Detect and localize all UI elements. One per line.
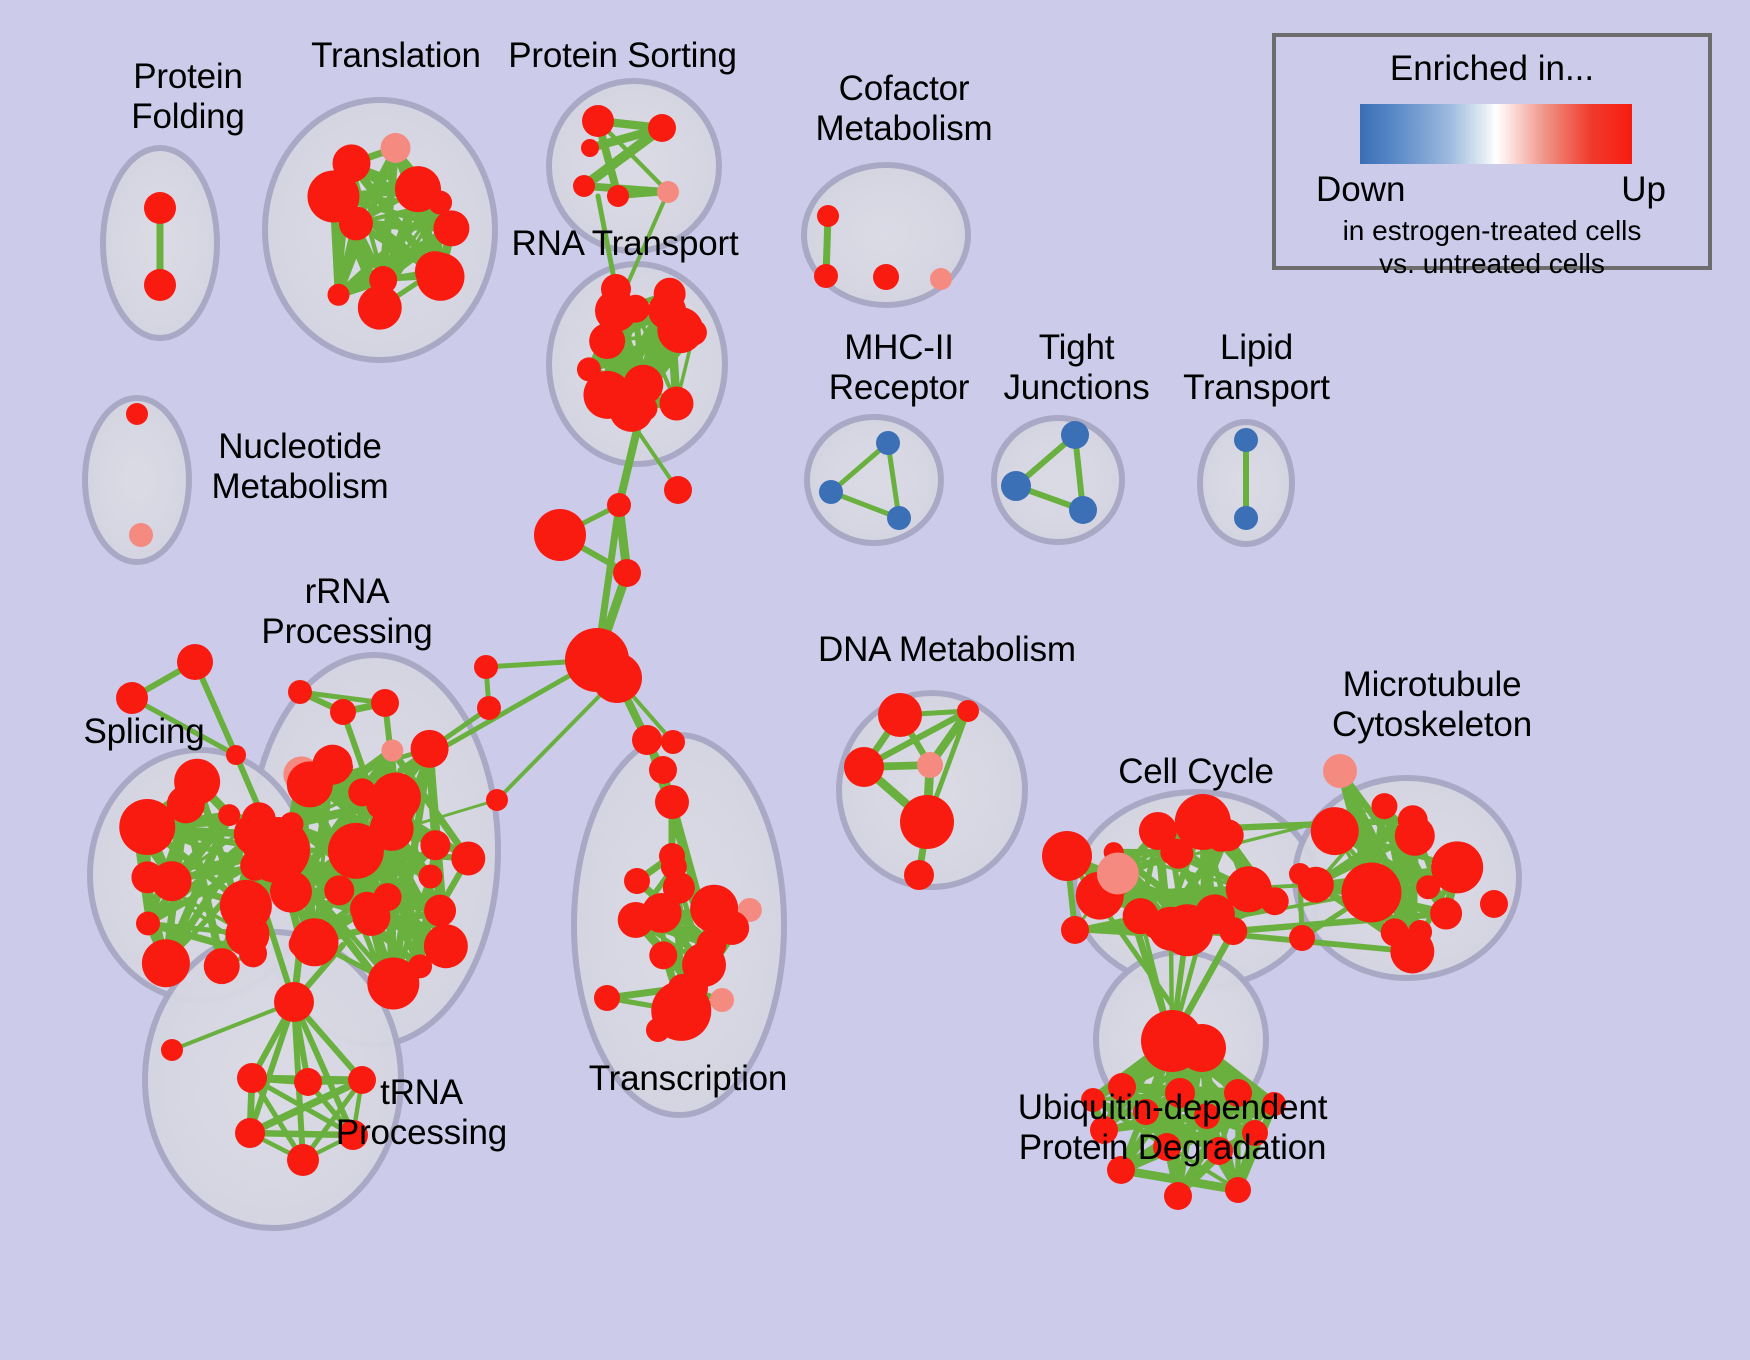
network-node (601, 274, 631, 304)
network-node (814, 264, 838, 288)
legend-title: Enriched in... (1276, 49, 1708, 89)
cluster-label-mhc-ii-receptor: MHC-II Receptor (805, 328, 993, 408)
network-node (142, 939, 190, 987)
network-node (659, 843, 685, 869)
network-node (632, 725, 662, 755)
network-node (582, 105, 614, 137)
network-node (294, 1068, 322, 1096)
network-node (411, 730, 449, 768)
network-node (324, 875, 354, 905)
network-node (144, 269, 176, 301)
cluster-label-protein-sorting: Protein Sorting (500, 36, 745, 76)
network-node (1097, 852, 1139, 894)
network-node (1480, 890, 1508, 918)
cluster-label-dna-metabolism: DNA Metabolism (818, 630, 1073, 670)
network-node (668, 974, 696, 1002)
network-node (1001, 471, 1031, 501)
network-node (328, 185, 354, 211)
network-node (577, 357, 601, 381)
network-node (1381, 918, 1409, 946)
cluster-label-cell-cycle: Cell Cycle (1106, 752, 1286, 792)
network-node (1123, 898, 1159, 934)
network-node (327, 284, 349, 306)
network-node (613, 559, 641, 587)
network-node (218, 804, 240, 826)
network-node (646, 1018, 670, 1042)
network-node (844, 747, 884, 787)
cluster-label-nucleotide-metabolism: Nucleotide Metabolism (196, 427, 404, 507)
network-node (1225, 1177, 1251, 1203)
network-figure: Protein FoldingTranslationProtein Sortin… (0, 0, 1750, 1360)
network-node (289, 931, 315, 957)
network-node (715, 911, 749, 945)
network-node (419, 865, 443, 889)
network-node (654, 278, 686, 310)
network-node (220, 880, 272, 932)
cluster-label-rrna-processing: rRNA Processing (247, 572, 447, 652)
network-node (451, 841, 485, 875)
network-edge (497, 678, 617, 800)
network-node (371, 689, 399, 717)
network-node (313, 745, 353, 785)
network-node (887, 506, 911, 530)
network-node (1178, 1024, 1226, 1072)
network-node (657, 181, 679, 203)
cluster-label-microtubule-cytoskeleton: Microtubule Cytoskeleton (1312, 665, 1552, 745)
network-node (1061, 421, 1089, 449)
network-node (659, 387, 693, 421)
network-node (358, 286, 402, 330)
network-node (1398, 805, 1428, 835)
cluster-label-transcription: Transcription (578, 1059, 798, 1099)
network-node (474, 655, 498, 679)
network-node (381, 133, 411, 163)
network-node (239, 939, 267, 967)
network-node (649, 941, 677, 969)
network-node (1139, 812, 1177, 850)
network-node (116, 682, 148, 714)
cluster-label-trna-processing: tRNA Processing (324, 1073, 519, 1153)
network-node (1261, 887, 1289, 915)
network-node (144, 192, 176, 224)
network-node (234, 813, 276, 855)
network-node (681, 319, 707, 345)
network-node (930, 268, 952, 290)
network-node (177, 644, 213, 680)
network-node (1371, 793, 1397, 819)
network-node (1061, 916, 1089, 944)
network-node (1289, 863, 1311, 885)
cluster-label-ubiquitin-degradation: Ubiquitin-dependent Protein Degradation (1000, 1088, 1345, 1168)
network-node (136, 911, 160, 935)
cluster-label-splicing: Splicing (64, 712, 224, 752)
network-node (129, 523, 153, 547)
cluster-label-translation: Translation (296, 36, 496, 76)
network-node (878, 693, 922, 737)
legend-down-label: Down (1316, 170, 1405, 210)
cluster-label-rna-transport: RNA Transport (505, 224, 745, 264)
network-node (379, 984, 401, 1006)
network-node (288, 680, 312, 704)
network-node (917, 752, 943, 778)
network-node (1069, 496, 1097, 524)
network-node (1234, 428, 1258, 452)
network-node (1362, 884, 1384, 906)
network-node (1212, 819, 1244, 851)
network-node (420, 830, 450, 860)
network-node (581, 139, 599, 157)
network-node (710, 988, 734, 1012)
legend-subtitle: in estrogen-treated cells vs. untreated … (1276, 214, 1708, 280)
network-node (121, 815, 147, 841)
network-node (161, 1039, 183, 1061)
network-node (904, 860, 934, 890)
network-node (607, 185, 629, 207)
network-node (174, 759, 220, 805)
network-node (1042, 831, 1092, 881)
network-node (649, 756, 677, 784)
network-node (237, 1063, 267, 1093)
network-node (1164, 1182, 1192, 1210)
network-node (381, 740, 403, 762)
network-node (607, 493, 631, 517)
network-node (1234, 506, 1258, 530)
network-node (416, 253, 464, 301)
network-node (873, 264, 899, 290)
network-node (333, 144, 371, 182)
network-node (1430, 898, 1462, 930)
network-node (204, 948, 240, 984)
network-node (424, 895, 456, 927)
network-node (876, 431, 900, 455)
network-node (664, 476, 692, 504)
network-node (486, 789, 508, 811)
network-node (1311, 807, 1359, 855)
network-node (370, 807, 414, 851)
network-node (534, 509, 586, 561)
network-node (817, 205, 839, 227)
network-node (274, 982, 314, 1022)
network-node (957, 700, 979, 722)
network-node (126, 403, 148, 425)
network-node (330, 699, 356, 725)
network-node (1323, 754, 1357, 788)
network-node (819, 480, 843, 504)
network-node (594, 985, 620, 1011)
cluster-label-tight-junctions: Tight Junctions (985, 328, 1168, 408)
cluster-label-lipid-transport: Lipid Transport (1165, 328, 1348, 408)
legend-color-bar (1360, 104, 1632, 164)
network-node (240, 851, 270, 881)
network-node (1416, 875, 1440, 899)
network-node (433, 210, 469, 246)
network-node (655, 785, 689, 819)
network-node (592, 653, 642, 703)
legend-up-label: Up (1621, 170, 1666, 210)
network-node (624, 868, 650, 894)
network-node (573, 175, 595, 197)
network-node (350, 892, 384, 926)
network-node (131, 861, 163, 893)
network-node (661, 730, 685, 754)
network-node (900, 795, 954, 849)
cluster-ellipse-mhc-ii-receptor (807, 417, 941, 543)
network-node (1289, 925, 1315, 951)
network-node (648, 114, 676, 142)
network-node (226, 745, 246, 765)
network-node (287, 1144, 319, 1176)
network-node (235, 1118, 265, 1148)
cluster-label-cofactor-metabolism: Cofactor Metabolism (800, 69, 1008, 149)
network-node (477, 696, 501, 720)
cluster-label-protein-folding: Protein Folding (88, 57, 288, 137)
legend-box: Enriched in... Down Up in estrogen-treat… (1272, 33, 1712, 270)
